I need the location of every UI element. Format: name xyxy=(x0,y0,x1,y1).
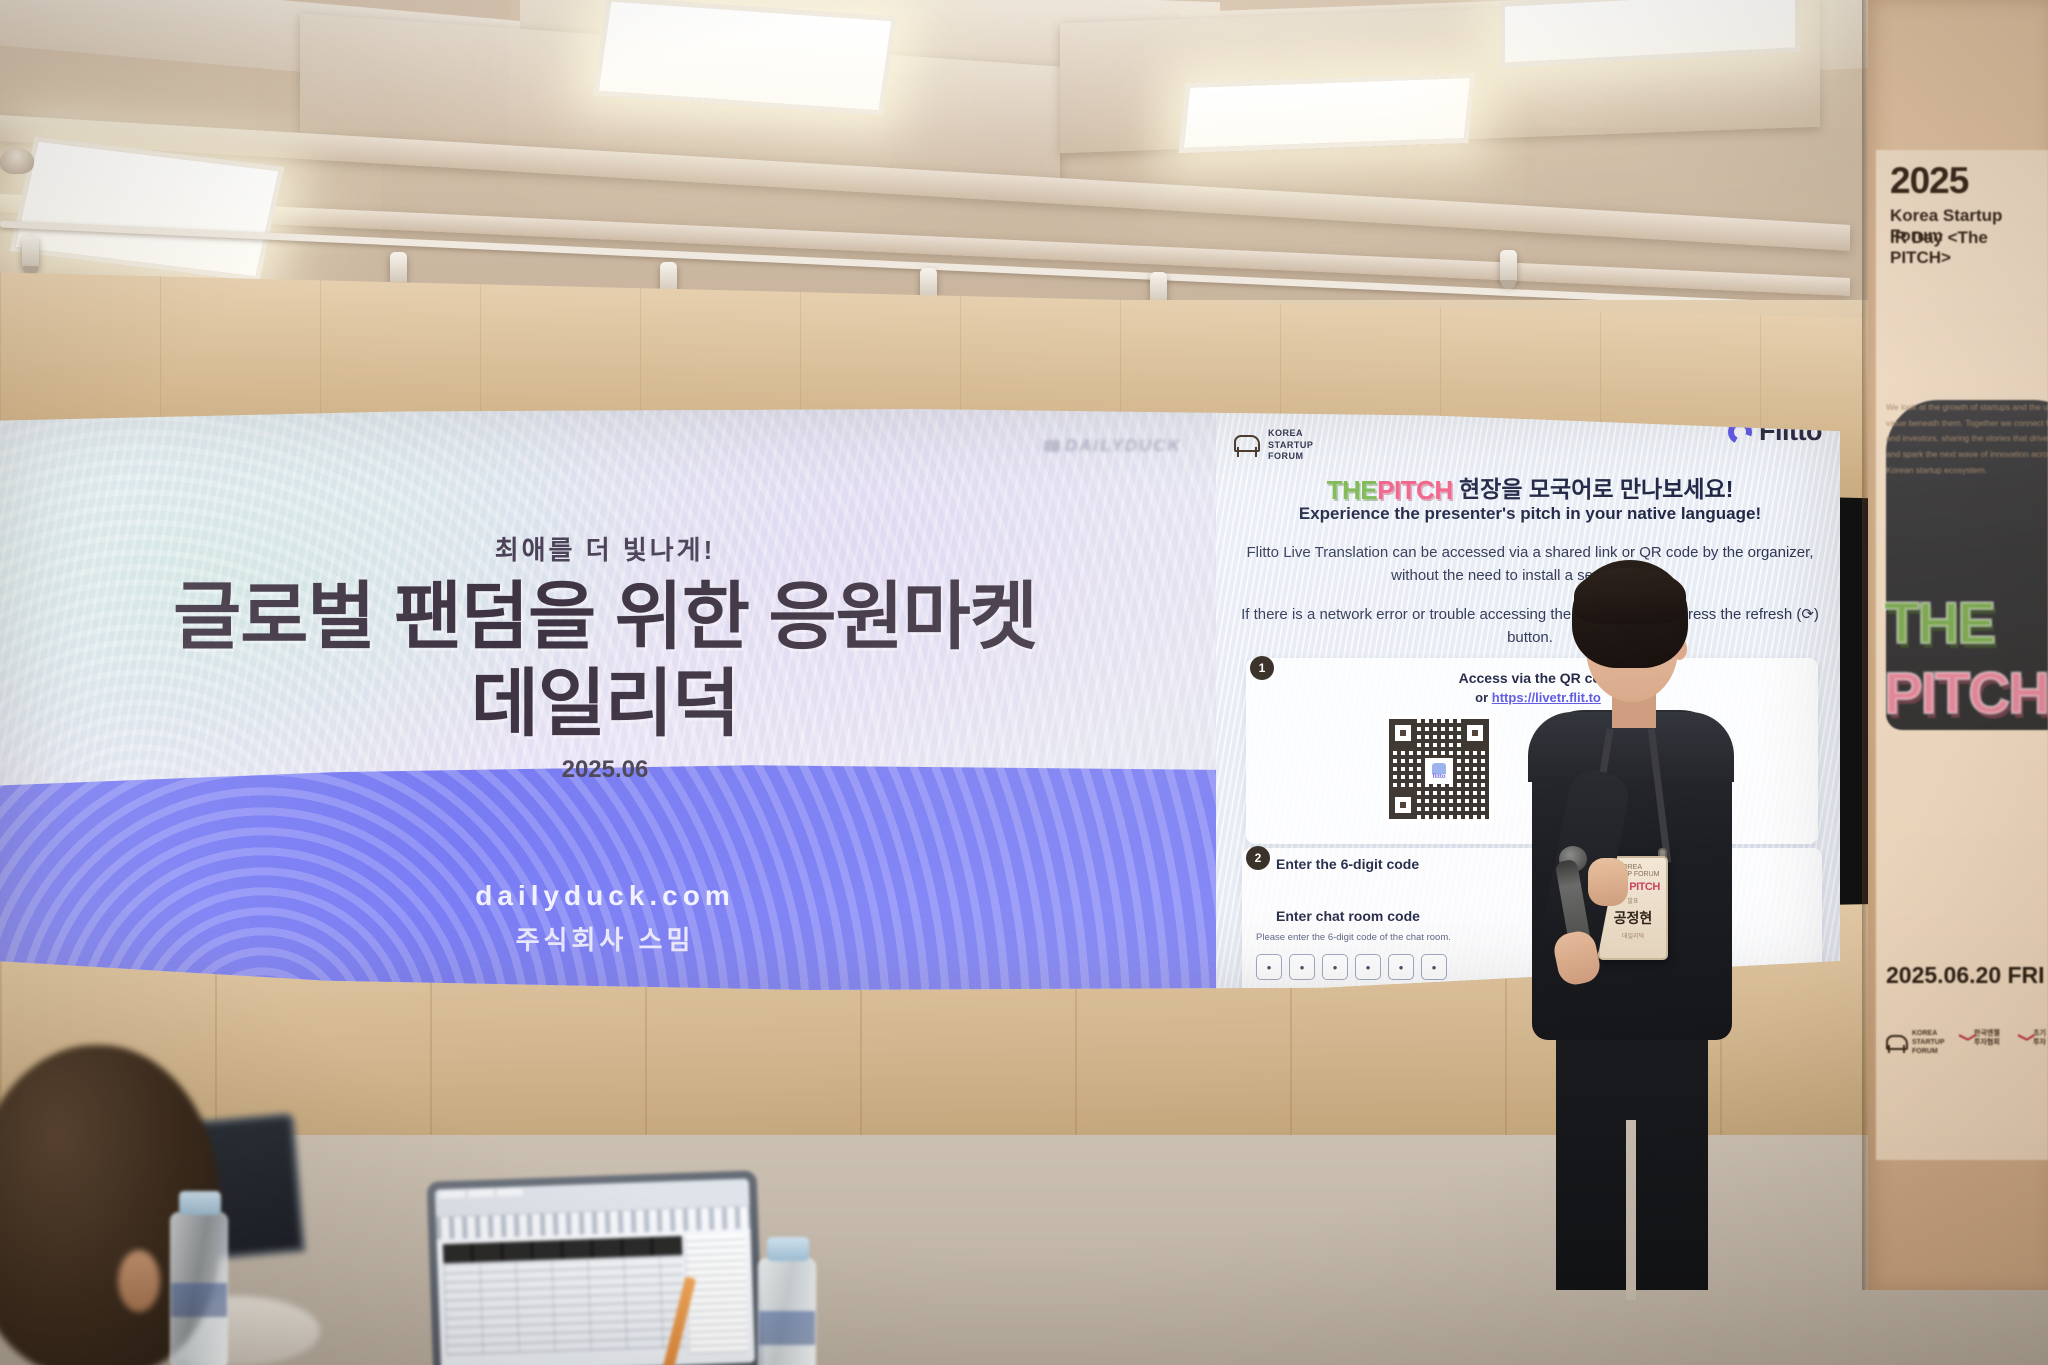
slide-kicker: 최애를 더 빛나게! xyxy=(0,530,1216,567)
browser-tabs[interactable] xyxy=(439,1188,523,1198)
track-spotlight xyxy=(1500,250,1517,284)
presenter-hair-front xyxy=(1574,568,1686,624)
audience-member-ear xyxy=(118,1250,160,1312)
slide-url: dailyduck.com xyxy=(0,880,1216,912)
presentation-slide-dailyduck: DAILYDUCK 최애를 더 빛나게! 글로벌 팬덤을 위한 응원마켓 데일리… xyxy=(0,408,1216,990)
comments-sidebar[interactable] xyxy=(685,1234,749,1354)
slide-company: 주식회사 스밈 xyxy=(0,920,1216,957)
bottle-cap xyxy=(767,1237,809,1261)
flitto-logo-text: Flitto xyxy=(1759,416,1822,447)
bottle-label xyxy=(171,1283,227,1317)
browser-tab[interactable] xyxy=(497,1188,523,1196)
laptop-screen[interactable] xyxy=(435,1179,755,1365)
water-bottle-left xyxy=(170,1212,228,1365)
sponsor-kban-label: 한국엔젤투자협회 xyxy=(1974,1030,2004,1048)
dailyduck-logo-text: DAILYDUCK xyxy=(1065,436,1182,456)
code-digit-2[interactable]: • xyxy=(1289,954,1315,980)
sponsor-ksf: KOREASTARTUPFORUM xyxy=(1884,1030,1945,1056)
korea-startup-forum-logo: KOREASTARTUPFORUM xyxy=(1232,428,1313,463)
poster-sponsor-logos: KOREASTARTUPFORUM 한국엔젤투자협회 초기투자 xyxy=(1884,1030,2048,1056)
sponsor-kban: 한국엔젤투자협회 xyxy=(1959,1030,2004,1048)
code-digit-6[interactable]: • xyxy=(1421,954,1447,980)
qr-logo-label: flitto xyxy=(1433,774,1446,780)
ceiling-light-panel-1 xyxy=(9,136,284,282)
ksf-logo-text: KOREASTARTUPFORUM xyxy=(1268,428,1313,463)
unicorn-icon xyxy=(1232,432,1262,459)
flitto-logo: Flitto xyxy=(1728,416,1822,447)
qr-finder-icon xyxy=(1461,719,1489,747)
step-2-badge: 2 xyxy=(1246,846,1270,870)
poster-brand-the: THE xyxy=(1884,590,1994,657)
qr-finder-icon xyxy=(1389,719,1417,747)
sprinkler-head xyxy=(0,148,34,174)
dailyduck-mark-icon xyxy=(1044,440,1060,452)
ceiling-light-panel-3 xyxy=(1178,73,1475,153)
laptop-center[interactable] xyxy=(427,1170,764,1365)
sponsor-early: 초기투자 xyxy=(2018,1030,2048,1048)
step-1-badge: 1 xyxy=(1250,656,1274,680)
slide-title-line-1: 글로벌 팬덤을 위한 응원마켓 xyxy=(0,574,1216,661)
poster-year: 2025 xyxy=(1890,160,1968,202)
poster-brand-pitch: PITCH xyxy=(1884,660,2048,727)
bottle-label xyxy=(759,1311,815,1345)
code-digit-1[interactable]: • xyxy=(1256,954,1282,980)
presenter-hand-upper xyxy=(1588,858,1628,906)
code-digit-5[interactable]: • xyxy=(1388,954,1414,980)
laptop-lid xyxy=(427,1170,764,1365)
leg-gap xyxy=(1626,1120,1636,1300)
unicorn-icon xyxy=(1884,1032,1908,1054)
bottle-cap xyxy=(179,1191,221,1215)
sponsor-early-label: 초기투자 xyxy=(2033,1030,2048,1048)
badge-role: 발표 xyxy=(1627,896,1638,905)
slide-title: 글로벌 팬덤을 위한 응원마켓 데일리덕 xyxy=(0,574,1216,747)
dailyduck-logo: DAILYDUCK xyxy=(1044,436,1182,456)
slide-title-line-2: 데일리덕 xyxy=(0,661,1216,748)
badge-org: 데일리덕 xyxy=(1622,931,1644,940)
code-input-group[interactable]: • • • • • • xyxy=(1256,954,1447,980)
flitto-mark-icon xyxy=(1728,420,1752,444)
code-digit-4[interactable]: • xyxy=(1355,954,1381,980)
qr-code-pattern: flitto xyxy=(1389,719,1489,819)
flitto-headline: THEPITCH 현장을 모국어로 만나보세요! xyxy=(1230,470,1830,506)
flitto-headline-english: Experience the presenter's pitch in your… xyxy=(1230,504,1830,524)
qr-finder-icon xyxy=(1389,791,1417,819)
poster-line-2: IR Day <The PITCH> xyxy=(1890,228,2048,268)
slide-date: 2025.06 xyxy=(0,756,1216,784)
water-bottle-right xyxy=(758,1258,816,1365)
check-icon xyxy=(2018,1032,2030,1046)
badge-name: 공정현 xyxy=(1614,908,1653,928)
presenter: 2025 KOREA STARTUP FORUM THE PITCH 발표 공정… xyxy=(1500,560,1750,1260)
headline-brand-the: THE xyxy=(1327,475,1378,506)
qr-code[interactable]: flitto xyxy=(1384,714,1494,824)
ceiling-light-panel-2 xyxy=(593,0,897,116)
step-1-or-prefix: or xyxy=(1475,690,1492,705)
headline-brand-pitch: PITCH xyxy=(1377,475,1453,506)
conference-room-scene: 2025 Korea Startup Forum IR Day <The PIT… xyxy=(0,0,2048,1365)
code-digit-3[interactable]: • xyxy=(1322,954,1348,980)
headline-korean: 현장을 모국어로 만나보세요! xyxy=(1459,476,1733,502)
track-spotlight xyxy=(22,236,39,271)
qr-center-logo: flitto xyxy=(1425,758,1453,784)
poster-date: 2025.06.20 FRI xyxy=(1886,962,2045,989)
check-icon xyxy=(1959,1032,1970,1046)
track-spotlight xyxy=(390,252,407,286)
sponsor-ksf-label: KOREASTARTUPFORUM xyxy=(1912,1030,1945,1056)
wall-poster: 2025 Korea Startup Forum IR Day <The PIT… xyxy=(1876,150,2048,1160)
spreadsheet-rows[interactable] xyxy=(444,1256,686,1354)
browser-tab[interactable] xyxy=(439,1190,465,1198)
browser-tab[interactable] xyxy=(468,1189,494,1197)
